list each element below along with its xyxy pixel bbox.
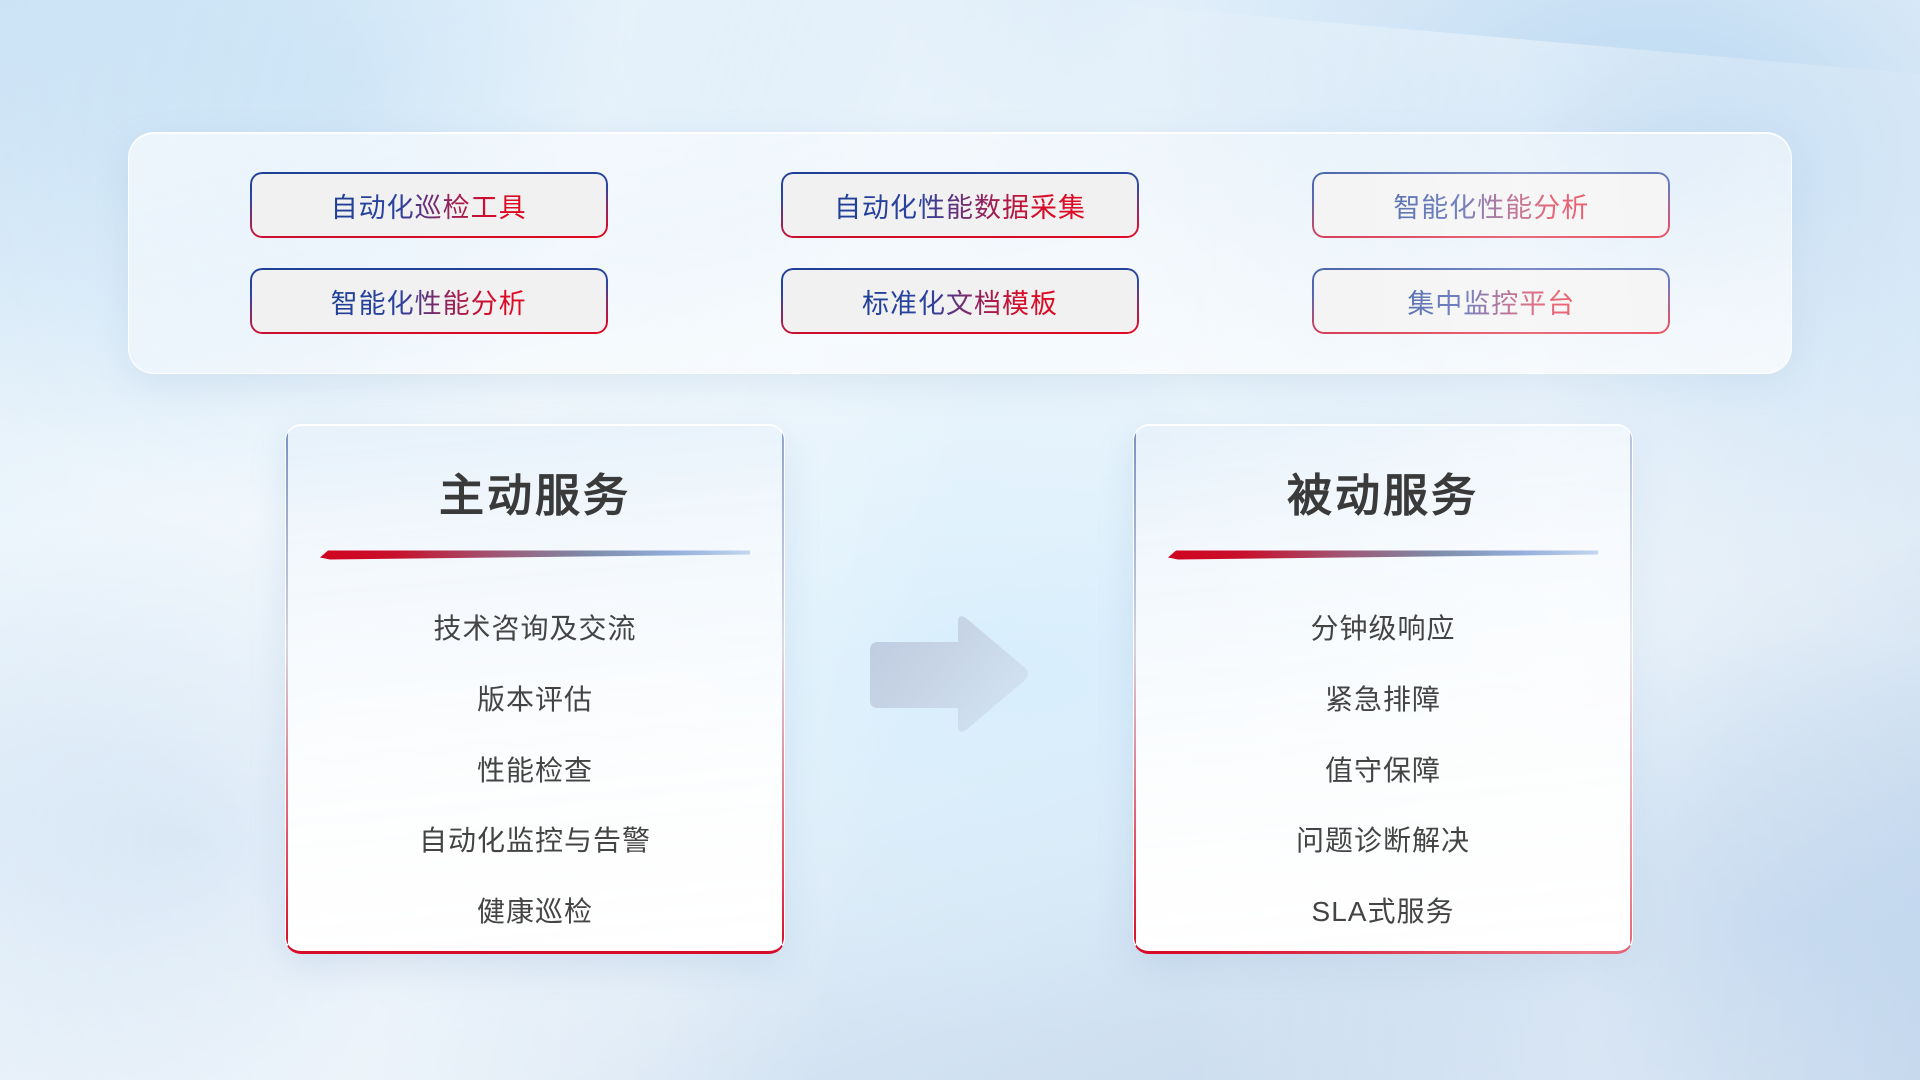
capability-panel: 自动化巡检工具 自动化性能数据采集 智能化性能分析 智能化性能分析 标准化文档模… xyxy=(128,132,1792,374)
list-item: 值守保障 xyxy=(1134,736,1632,807)
list-item: SLA式服务 xyxy=(1134,877,1632,948)
service-list-active: 技术咨询及交流 版本评估 性能检查 自动化监控与告警 健康巡检 xyxy=(286,594,784,948)
service-card-active: 主动服务 技术咨询及交流 版本评估 性能检查 xyxy=(285,424,785,954)
capability-pill-1[interactable]: 自动化巡检工具 xyxy=(250,172,608,238)
capability-pill-2[interactable]: 自动化性能数据采集 xyxy=(781,172,1139,238)
capability-pill-6[interactable]: 集中监控平台 xyxy=(1312,268,1670,334)
card-title: 被动服务 xyxy=(1134,459,1632,524)
capability-pill-label: 智能化性能分析 xyxy=(331,282,527,321)
list-item: 紧急排障 xyxy=(1134,665,1632,736)
title-divider xyxy=(320,548,750,560)
capability-pill-label: 智能化性能分析 xyxy=(1393,186,1589,225)
capability-pill-label: 集中监控平台 xyxy=(1407,282,1575,321)
capability-pill-3[interactable]: 智能化性能分析 xyxy=(1312,172,1670,238)
title-divider xyxy=(1168,548,1598,560)
capability-pill-4[interactable]: 智能化性能分析 xyxy=(250,268,608,334)
capability-pill-label: 自动化性能数据采集 xyxy=(834,186,1086,225)
list-item: 技术咨询及交流 xyxy=(286,594,784,665)
card-title: 主动服务 xyxy=(286,459,784,524)
diagram-canvas: 自动化巡检工具 自动化性能数据采集 智能化性能分析 智能化性能分析 标准化文档模… xyxy=(0,0,1920,1080)
capability-pill-label: 标准化文档模板 xyxy=(862,282,1058,321)
service-list-passive: 分钟级响应 紧急排障 值守保障 问题诊断解决 SLA式服务 xyxy=(1134,594,1632,948)
list-item: 性能检查 xyxy=(286,736,784,807)
list-item: 问题诊断解决 xyxy=(1134,806,1632,877)
capability-pill-label: 自动化巡检工具 xyxy=(331,186,527,225)
service-card-passive: 被动服务 分钟级响应 紧急排障 值守保障 xyxy=(1133,424,1633,954)
capability-pill-5[interactable]: 标准化文档模板 xyxy=(781,268,1139,334)
list-item: 健康巡检 xyxy=(286,877,784,948)
list-item: 自动化监控与告警 xyxy=(286,806,784,877)
right-arrow-icon xyxy=(862,612,1032,738)
list-item: 分钟级响应 xyxy=(1134,594,1632,665)
list-item: 版本评估 xyxy=(286,665,784,736)
